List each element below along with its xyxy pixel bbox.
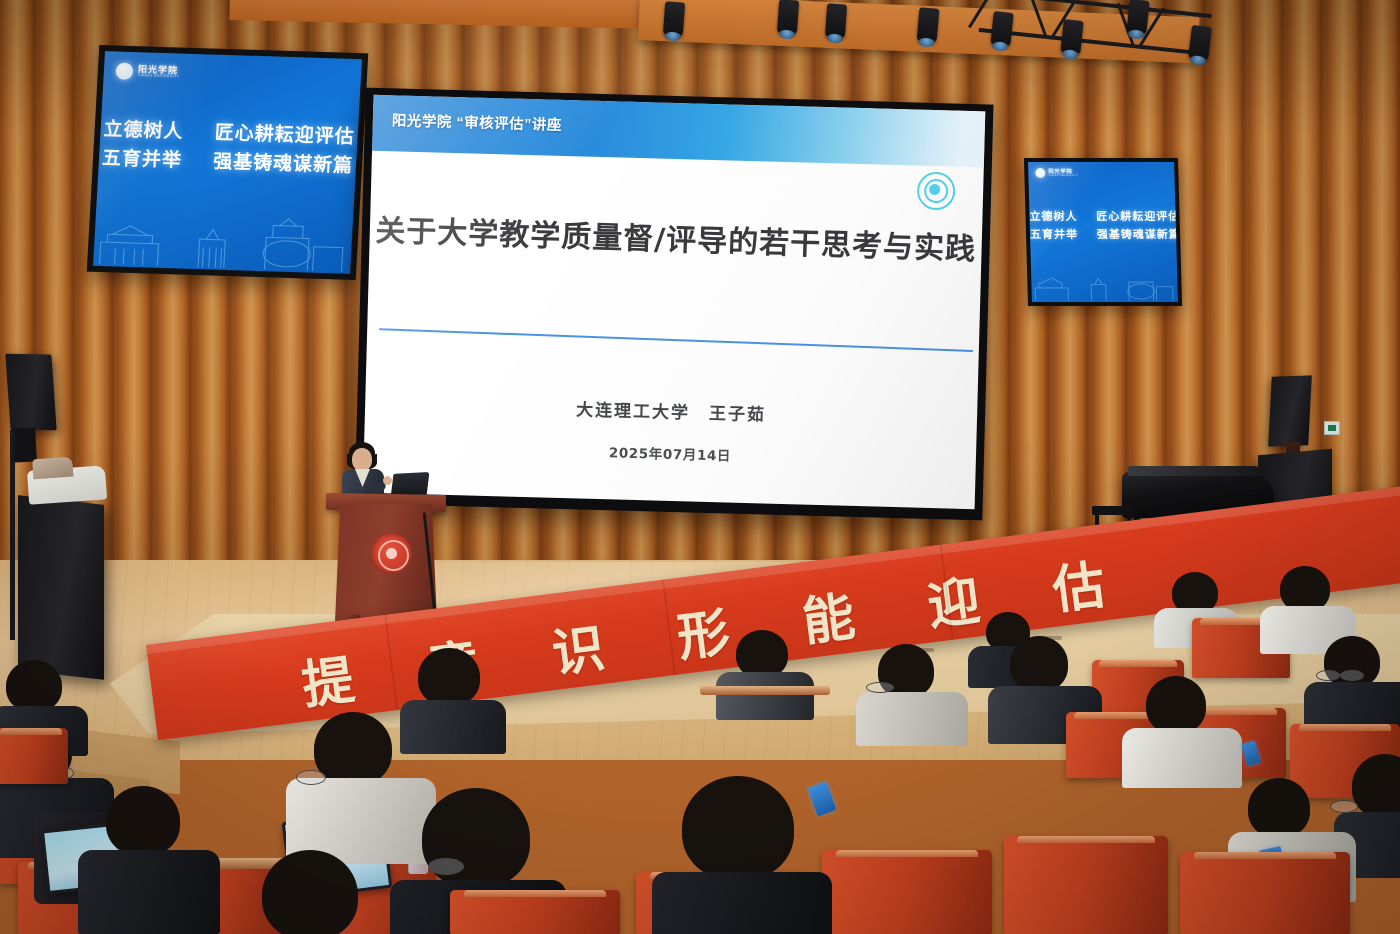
slide-header-bar: 阳光学院 “审核评估”讲座 [372,95,985,168]
auditorium-seat-icon [1180,852,1350,934]
line-array-speaker-icon [1268,375,1312,446]
right-led-glare [1028,162,1178,302]
left-led-glare [93,51,362,274]
stage-spotlight-icon [825,3,847,38]
slide-title: 关于大学教学质量督/评导的若干思考与实践 [369,205,982,268]
eyeglasses-icon [296,770,326,785]
slide-divider-rule [379,328,972,352]
auditorium-seat-icon [0,728,68,784]
audience-seating-area [0,600,1400,934]
piano-bench-icon [1092,506,1134,515]
right-led-screen-surface: 阳光学院 YANGO UNIVERSITY 立德树人 匠心耕耘迎评估 五育并举 … [1028,162,1178,302]
eyeglasses-icon [1316,670,1340,681]
exit-sign-icon [1324,421,1340,435]
auditorium-seat-icon [450,890,620,934]
stage-spotlight-icon [1126,0,1149,35]
left-led-display: 阳光学院 YANGO UNIVERSITY 立德树人 匠心耕耘迎评估 五育并举 … [87,45,369,280]
smartphone-icon [807,781,836,816]
stage-spotlight-icon [990,11,1013,47]
stage-spotlight-icon [663,1,685,36]
stage-spotlight-icon [1188,25,1212,61]
line-array-speaker-icon [5,354,56,431]
stage-spotlight-icon [777,0,799,35]
eyeglasses-icon [866,682,894,693]
presenter-hand [383,476,392,485]
slide-author: 大连理工大学 王子茹 [365,390,977,432]
stage-spotlight-icon [1060,19,1083,55]
seat-armrest [700,686,830,695]
eyeglasses-icon [428,858,464,875]
slide-date: 2025年07月14日 [364,435,976,472]
eyeglasses-icon [1340,670,1364,681]
cloth-bundle [27,465,107,504]
university-crest-emblem-icon [371,533,412,574]
eyeglasses-icon [1330,800,1358,813]
auditorium-scene: 阳光学院 YANGO UNIVERSITY 立德树人 匠心耕耘迎评估 五育并举 … [0,0,1400,934]
circular-seal-watermark-icon [917,172,956,211]
main-projection-screen: 阳光学院 “审核评估”讲座 关于大学教学质量督/评导的若干思考与实践 大连理工大… [354,88,993,521]
left-led-screen-surface: 阳光学院 YANGO UNIVERSITY 立德树人 匠心耕耘迎评估 五育并举 … [93,51,362,274]
auditorium-seat-icon [1004,836,1168,934]
right-led-display: 阳光学院 YANGO UNIVERSITY 立德树人 匠心耕耘迎评估 五育并举 … [1024,158,1182,306]
presenter-head [352,448,372,471]
stage-spotlight-icon [917,7,940,43]
auditorium-seat-icon [822,850,992,934]
main-slide: 阳光学院 “审核评估”讲座 关于大学教学质量督/评导的若干思考与实践 大连理工大… [363,95,986,509]
slide-header-text: 阳光学院 “审核评估”讲座 [392,109,563,135]
